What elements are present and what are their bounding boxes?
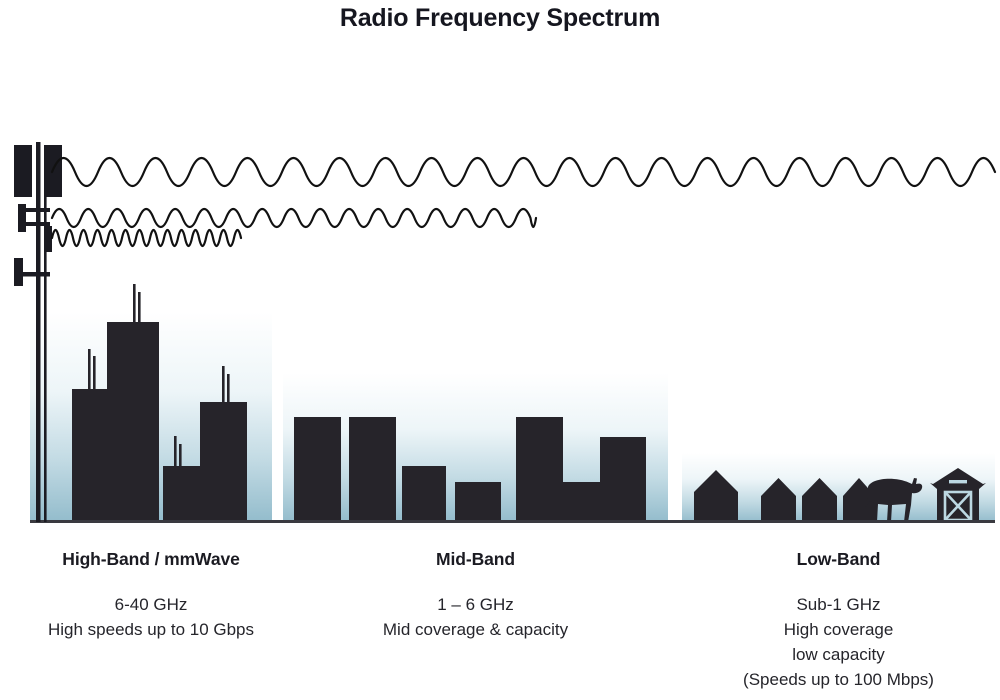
mid-frequency-wave <box>52 209 536 227</box>
building <box>402 466 446 522</box>
building-spire <box>93 356 96 393</box>
building <box>516 417 563 522</box>
building-spire <box>174 436 177 470</box>
building <box>107 322 159 522</box>
building-spire <box>133 284 136 326</box>
band-description-mid-band: 1 – 6 GHzMid coverage & capacity <box>283 592 668 642</box>
building <box>600 437 646 522</box>
building <box>294 417 341 522</box>
band-frequency-high-band: 6-40 GHz <box>30 592 272 617</box>
tower-crossbar-upper <box>18 208 50 212</box>
band-description-low-band: Sub-1 GHzHigh coveragelow capacity(Speed… <box>682 592 995 692</box>
tower-antenna-panel-small <box>44 226 52 252</box>
tower-antenna-panel-left <box>14 145 32 197</box>
high-frequency-wave <box>52 230 241 246</box>
tower-mast <box>36 142 41 522</box>
band-detail-mid-band-0: Mid coverage & capacity <box>283 617 668 642</box>
band-detail-low-band-0: High coverage <box>682 617 995 642</box>
band-detail-high-band-0: High speeds up to 10 Gbps <box>30 617 272 642</box>
band-detail-low-band-1: low capacity <box>682 642 995 667</box>
band-frequency-mid-band: 1 – 6 GHz <box>283 592 668 617</box>
band-description-high-band: 6-40 GHzHigh speeds up to 10 Gbps <box>30 592 272 642</box>
building <box>200 402 247 522</box>
band-detail-low-band-2: (Speeds up to 100 Mbps) <box>682 667 995 692</box>
building-spire <box>222 366 225 406</box>
band-frequency-low-band: Sub-1 GHz <box>682 592 995 617</box>
building <box>455 482 501 522</box>
building <box>349 417 396 522</box>
building-spire <box>227 374 230 406</box>
tower-crossbar-mid <box>18 222 50 226</box>
low-frequency-wave <box>52 158 995 186</box>
radio-waves <box>52 158 995 246</box>
tower-crossbar-lower <box>14 272 50 277</box>
band-heading-high-band: High-Band / mmWave <box>30 549 272 570</box>
building <box>563 482 601 522</box>
band-heading-low-band: Low-Band <box>682 549 995 570</box>
building-spire <box>88 349 91 393</box>
building-spire <box>138 292 141 326</box>
band-heading-mid-band: Mid-Band <box>283 549 668 570</box>
barn-hayloft-vent <box>949 480 967 483</box>
infographic-canvas: Radio Frequency Spectrum H <box>0 0 1000 700</box>
